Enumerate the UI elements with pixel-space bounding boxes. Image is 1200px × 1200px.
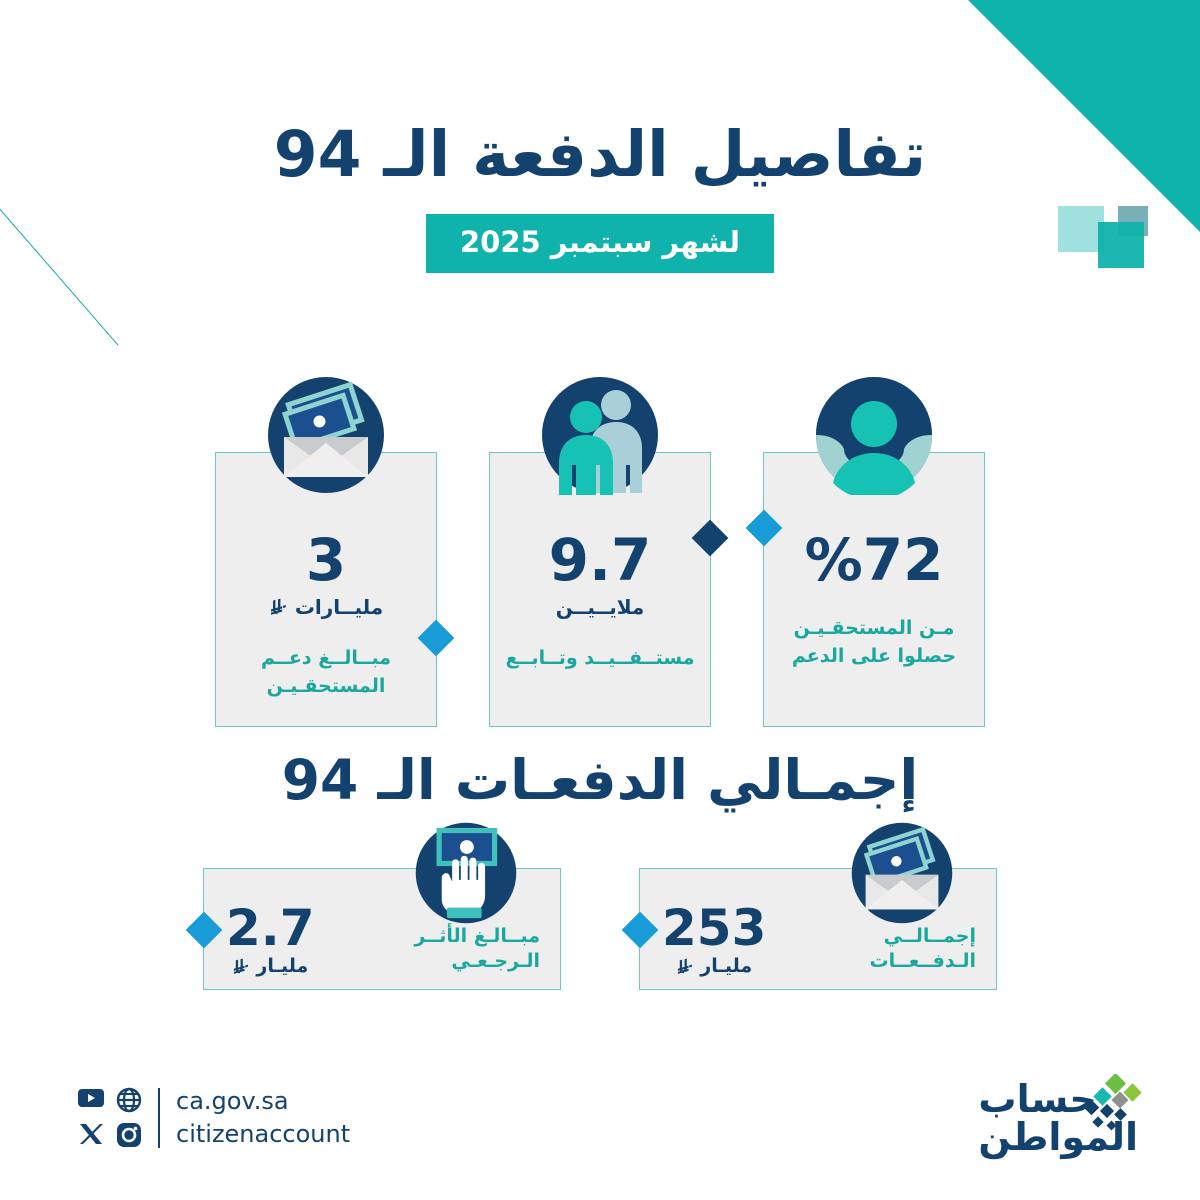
stat-value: 3 xyxy=(306,531,346,589)
stat-card-beneficiaries: 9.7 ملايــيــن مستــفــيــد وتــابــع xyxy=(489,452,711,727)
totals-row: إجمــالــي الـدفــعــات 253 مليـار xyxy=(0,868,1200,990)
card-diamond-marker xyxy=(746,510,783,547)
stat-unit-text: ملايــيــن xyxy=(556,595,645,619)
header: تفاصيل الدفعة الـ 94 لشهر سبتمبر 2025 xyxy=(0,118,1200,273)
stat-value: %72 xyxy=(805,531,944,589)
total-figure: 253 مليـار xyxy=(662,903,766,977)
saudi-riyal-icon xyxy=(269,597,289,617)
total-card-retroactive: مبــالـغ الأثــر الـرجـعـي 2.7 مليـار xyxy=(203,868,561,990)
total-card-all-payments: إجمــالــي الـدفــعــات 253 مليـار xyxy=(639,868,997,990)
section-title: إجمـالي الدفعـات الـ 94 xyxy=(0,748,1200,812)
month-badge: لشهر سبتمبر 2025 xyxy=(426,214,774,273)
stat-label: مبــالــغ دعــم المستحقـيـن xyxy=(216,645,436,700)
brand-logo: حساب المواطن xyxy=(978,1080,1138,1156)
saudi-riyal-icon xyxy=(676,957,695,976)
total-label: إجمــالــي الـدفــعــات xyxy=(806,924,976,975)
card-diamond-marker xyxy=(186,912,223,949)
stat-card-percentage: %72 مـن المستحقـيـن حصلوا على الدعم xyxy=(763,452,985,727)
two-people-icon xyxy=(540,375,660,495)
money-envelope-icon xyxy=(266,375,386,495)
infographic-poster: تفاصيل الدفعة الـ 94 لشهر سبتمبر 2025 %7… xyxy=(0,0,1200,1200)
total-value: 253 xyxy=(662,903,766,953)
beneficiary-avatar-icon xyxy=(814,375,934,495)
footer-handles: ca.gov.sa citizenaccount xyxy=(176,1087,350,1148)
total-label: مبــالـغ الأثــر الـرجـعـي xyxy=(370,924,540,975)
total-unit: مليـار xyxy=(662,955,766,977)
total-unit-text: مليـار xyxy=(700,955,752,977)
total-figure: 2.7 مليـار xyxy=(226,903,315,977)
card-diamond-marker xyxy=(692,520,729,557)
footer-social: ca.gov.sa citizenaccount xyxy=(78,1087,350,1148)
money-envelope-icon xyxy=(850,821,954,925)
social-icon-grid xyxy=(78,1087,142,1148)
total-unit-text: مليـار xyxy=(256,955,308,977)
youtube-icon[interactable] xyxy=(78,1087,104,1109)
stat-label: مـن المستحقـيـن حصلوا على الدعم xyxy=(764,615,984,670)
total-unit: مليـار xyxy=(226,955,315,977)
stat-unit-text: مليــارات xyxy=(295,595,383,619)
page-title: تفاصيل الدفعة الـ 94 xyxy=(0,118,1200,192)
stat-label: مستــفــيــد وتــابــع xyxy=(498,645,703,673)
x-twitter-icon[interactable] xyxy=(78,1122,104,1146)
instagram-icon[interactable] xyxy=(116,1122,142,1148)
stat-value: 9.7 xyxy=(549,531,652,589)
saudi-riyal-icon xyxy=(232,957,251,976)
hand-cash-icon xyxy=(414,821,518,925)
stat-cards-row: %72 مـن المستحقـيـن حصلوا على الدعم 9.7 … xyxy=(0,452,1200,727)
card-diamond-marker xyxy=(622,912,659,949)
stat-card-support-amount: 3 مليــارات مبــالــغ دعــم المستحقـيـن xyxy=(215,452,437,727)
website-url[interactable]: ca.gov.sa xyxy=(176,1087,350,1115)
stat-unit: ملايــيــن xyxy=(556,595,645,619)
stat-unit: مليــارات xyxy=(269,595,383,619)
social-handle[interactable]: citizenaccount xyxy=(176,1120,350,1148)
total-value: 2.7 xyxy=(226,903,315,953)
logo-mosaic-icon xyxy=(1052,1074,1144,1136)
globe-icon[interactable] xyxy=(116,1087,142,1113)
footer-divider xyxy=(158,1088,160,1148)
